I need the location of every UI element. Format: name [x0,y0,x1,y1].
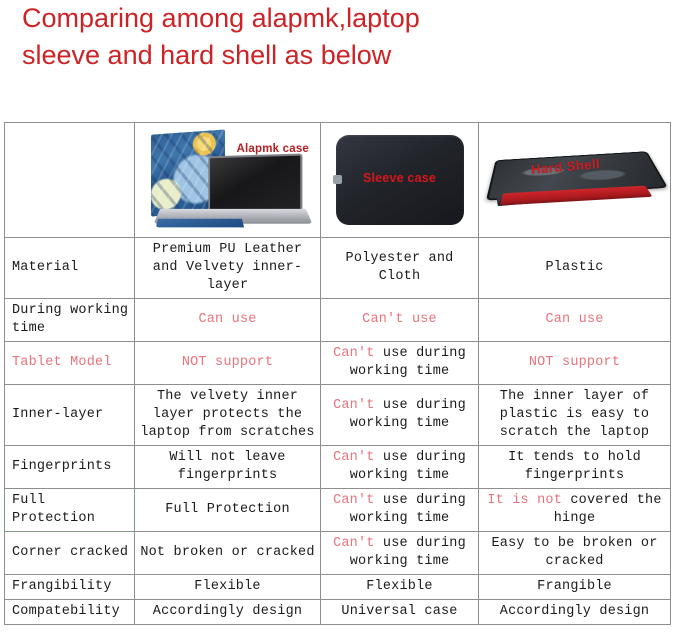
row-label-fingerprints: Fingerprints [5,446,135,489]
row-label-frangibility: Frangibility [5,575,135,600]
table-row: Full Protection Full Protection Can't us… [5,489,671,532]
cell-red-prefix: Can't [333,536,375,551]
page-title: Comparing among alapmk,laptop sleeve and… [22,0,652,74]
alapmk-case-image: Alapmk case [135,123,320,237]
table-row: Tablet Model NOT support Can't use durin… [5,342,671,385]
cell-compat-alapmk: Accordingly design [135,600,321,625]
product-image-alapmk-case: Alapmk case [135,123,321,238]
cell-fingerprints-hardshell: It tends to hold fingerprints [479,446,671,489]
cell-red-prefix: Can't [333,398,375,413]
cell-material-alapmk: Premium PU Leather and Velvety inner-lay… [135,238,321,299]
alapmk-case-badge-label: Alapmk case [237,140,310,158]
cell-working-sleeve: Can't use [321,299,479,342]
row-label-full-protection: Full Protection [5,489,135,532]
row-label-material: Material [5,238,135,299]
cell-protection-alapmk: Full Protection [135,489,321,532]
cell-red-prefix: Can't [333,493,375,508]
sleeve-case-badge-label: Sleeve case [336,169,464,187]
cell-frangibility-alapmk: Flexible [135,575,321,600]
cell-working-alapmk: Can use [135,299,321,342]
row-label-corner-cracked: Corner cracked [5,532,135,575]
header-blank-cell [5,123,135,238]
table-row: Inner-layer The velvety inner layer prot… [5,385,671,446]
laptop-screen-icon [208,153,302,214]
table-row: Corner cracked Not broken or cracked Can… [5,532,671,575]
product-image-hard-shell: Hard Shell [479,123,671,238]
cell-red-prefix: Can't [333,450,375,465]
cell-protection-sleeve: Can't use during working time [321,489,479,532]
page-title-line-1: Comparing among alapmk,laptop [22,0,652,37]
cell-material-hardshell: Plastic [479,238,671,299]
cell-frangibility-sleeve: Flexible [321,575,479,600]
table-row: Fingerprints Will not leave fingerprints… [5,446,671,489]
table-row: Material Premium PU Leather and Velvety … [5,238,671,299]
laptop-illustration: Alapmk case [139,128,317,232]
table-row: During working time Can use Can't use Ca… [5,299,671,342]
laptop-base-art-icon [155,219,243,228]
cell-working-hardshell: Can use [479,299,671,342]
row-label-compatebility: Compatebility [5,600,135,625]
cell-fingerprints-alapmk: Will not leave fingerprints [135,446,321,489]
cell-compat-hardshell: Accordingly design [479,600,671,625]
cell-corner-sleeve: Can't use during working time [321,532,479,575]
table-header-row: Alapmk case Sleeve case [5,123,671,238]
cell-compat-sleeve: Universal case [321,600,479,625]
cell-red-prefix: Can't [333,346,375,361]
table-row: Frangibility Flexible Flexible Frangible [5,575,671,600]
sleeve-case-image: Sleeve case [321,123,478,237]
sleeve-illustration: Sleeve case [336,135,464,225]
comparison-table-body: Alapmk case Sleeve case [5,123,671,625]
page-title-line-2: sleeve and hard shell as below [22,37,652,74]
cell-material-sleeve: Polyester and Cloth [321,238,479,299]
hard-shell-illustration: Hard Shell [487,132,663,228]
hard-shell-image: Hard Shell [479,123,670,237]
cell-corner-hardshell: Easy to be broken or cracked [479,532,671,575]
cell-tablet-alapmk: NOT support [135,342,321,385]
cell-fingerprints-sleeve: Can't use during working time [321,446,479,489]
cell-inner-hardshell: The inner layer of plastic is easy to sc… [479,385,671,446]
row-label-inner-layer: Inner-layer [5,385,135,446]
cell-inner-sleeve: Can't use during working time [321,385,479,446]
cell-tablet-sleeve: Can't use during working time [321,342,479,385]
cell-inner-alapmk: The velvety inner layer protects the lap… [135,385,321,446]
cell-red-prefix: It is not [487,493,562,508]
row-label-tablet-model: Tablet Model [5,342,135,385]
row-label-during-working-time: During working time [5,299,135,342]
cell-rest: covered the hinge [554,493,662,526]
cell-tablet-hardshell: NOT support [479,342,671,385]
table-row: Compatebility Accordingly design Univers… [5,600,671,625]
cell-corner-alapmk: Not broken or cracked [135,532,321,575]
cell-frangibility-hardshell: Frangible [479,575,671,600]
product-image-sleeve-case: Sleeve case [321,123,479,238]
cell-protection-hardshell: It is not covered the hinge [479,489,671,532]
comparison-table: Alapmk case Sleeve case [4,122,671,625]
